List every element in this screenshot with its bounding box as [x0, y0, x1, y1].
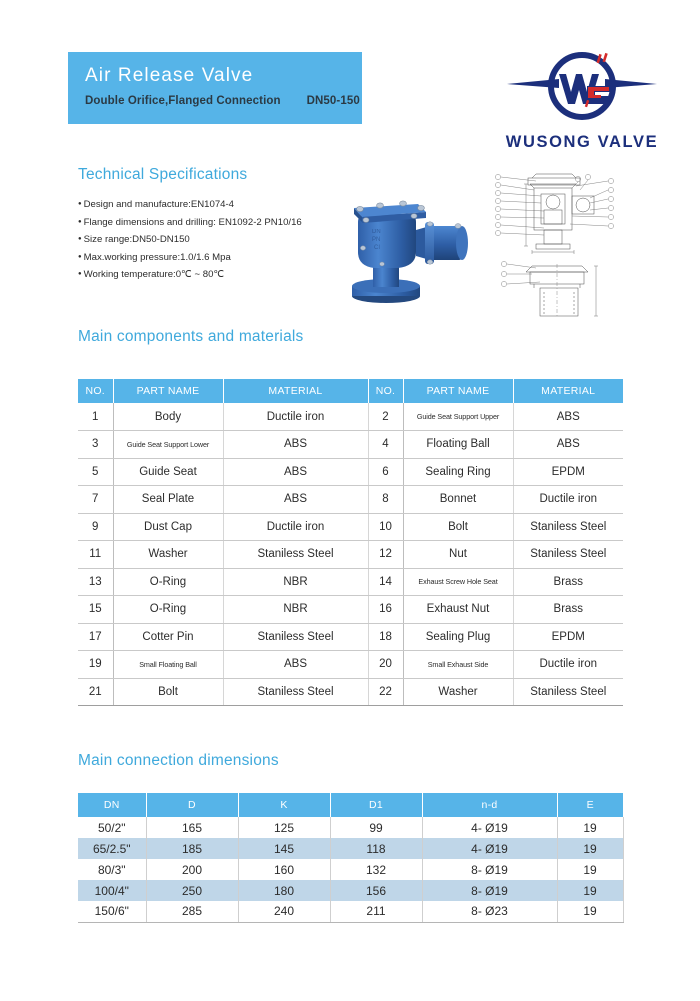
cell-no: 20	[368, 651, 403, 679]
cell-no: 7	[78, 486, 113, 514]
cell-material: Ductile iron	[223, 403, 368, 431]
cell-material: Ductile iron	[513, 651, 623, 679]
cell-no: 12	[368, 541, 403, 569]
column-header-material: MATERIAL	[513, 379, 623, 403]
cell-material: Staniless Steel	[513, 541, 623, 569]
cell-part-name: O-Ring	[113, 568, 223, 596]
valve-upper-assembly-drawing	[496, 256, 614, 318]
cell-n-d: 4- Ø19	[422, 838, 557, 859]
spec-item: Flange dimensions and drilling: EN1092-2…	[78, 214, 348, 232]
cell-material: EPDM	[513, 623, 623, 651]
cell-no: 9	[78, 513, 113, 541]
title-banner: Air Release Valve Double Orifice,Flanged…	[68, 52, 362, 124]
table-row: 9Dust CapDuctile iron10BoltStaniless Ste…	[78, 513, 623, 541]
cell-material: EPDM	[513, 458, 623, 486]
page-header: Air Release Valve Double Orifice,Flanged…	[0, 0, 700, 150]
cell-material: Staniless Steel	[223, 678, 368, 706]
cell-part-name: Floating Ball	[403, 431, 513, 459]
wusong-valve-logo-icon	[487, 48, 677, 126]
cell-part-name: Sealing Plug	[403, 623, 513, 651]
cell-material: ABS	[513, 403, 623, 431]
cell-material: Ductile iron	[223, 513, 368, 541]
technical-specifications-list: Design and manufacture:EN1074-4 Flange d…	[78, 196, 348, 284]
table-row: 21BoltStaniless Steel22WasherStaniless S…	[78, 678, 623, 706]
column-header-d: D	[146, 793, 238, 817]
cell-part-name: Exhaust Screw Hole Seat	[403, 568, 513, 596]
cell-e: 19	[557, 859, 623, 880]
cell-part-name: Seal Plate	[113, 486, 223, 514]
cell-d: 285	[146, 901, 238, 922]
cell-no: 1	[78, 403, 113, 431]
cell-material: ABS	[223, 458, 368, 486]
cell-part-name: Exhaust Nut	[403, 596, 513, 624]
cell-no: 13	[78, 568, 113, 596]
cell-no: 10	[368, 513, 403, 541]
components-table-body: 1BodyDuctile iron2Guide Seat Support Upp…	[78, 403, 623, 706]
cell-dn: 80/3"	[78, 859, 146, 880]
cell-part-name: Body	[113, 403, 223, 431]
cell-part-name: Bolt	[403, 513, 513, 541]
table-row: 80/3"2001601328- Ø1919	[78, 859, 623, 880]
table-row: 50/2"165125994- Ø1919	[78, 817, 623, 838]
cell-part-name: Small Floating Ball	[113, 651, 223, 679]
cell-n-d: 8- Ø19	[422, 880, 557, 901]
cell-material: ABS	[223, 431, 368, 459]
cell-e: 19	[557, 901, 623, 922]
cell-no: 11	[78, 541, 113, 569]
cell-d: 200	[146, 859, 238, 880]
cell-part-name: Dust Cap	[113, 513, 223, 541]
table-row: 11WasherStaniless Steel12NutStaniless St…	[78, 541, 623, 569]
cell-d: 165	[146, 817, 238, 838]
components-heading: Main components and materials	[78, 328, 304, 346]
table-row: 150/6"2852402118- Ø2319	[78, 901, 623, 922]
cell-no: 3	[78, 431, 113, 459]
cell-part-name: Cotter Pin	[113, 623, 223, 651]
cell-n-d: 8- Ø19	[422, 859, 557, 880]
cell-no: 5	[78, 458, 113, 486]
cell-no: 17	[78, 623, 113, 651]
cell-part-name: O-Ring	[113, 596, 223, 624]
title-subtitle-row: Double Orifice,Flanged Connection DN50-1…	[85, 95, 362, 107]
cell-dn: 50/2"	[78, 817, 146, 838]
column-header-part-name: PART NAME	[403, 379, 513, 403]
cell-d1: 118	[330, 838, 422, 859]
cell-part-name: Bolt	[113, 678, 223, 706]
cell-part-name: Washer	[113, 541, 223, 569]
cell-d: 250	[146, 880, 238, 901]
page-title: Air Release Valve	[85, 63, 362, 88]
cell-no: 15	[78, 596, 113, 624]
column-header-d1: D1	[330, 793, 422, 817]
technical-specifications-heading: Technical Specifications	[78, 166, 247, 184]
column-header-k: K	[238, 793, 330, 817]
cell-e: 19	[557, 817, 623, 838]
cell-part-name: Guide Seat Support Lower	[113, 431, 223, 459]
cell-no: 19	[78, 651, 113, 679]
cell-part-name: Guide Seat Support Upper	[403, 403, 513, 431]
cell-material: Staniless Steel	[513, 678, 623, 706]
cell-e: 19	[557, 880, 623, 901]
cell-k: 180	[238, 880, 330, 901]
column-header-part-name: PART NAME	[113, 379, 223, 403]
svg-text:CI: CI	[374, 245, 380, 251]
product-photo: DN PN CI	[318, 186, 486, 308]
table-row: 15O-RingNBR16Exhaust NutBrass	[78, 596, 623, 624]
cell-no: 18	[368, 623, 403, 651]
column-header-n-d: n-d	[422, 793, 557, 817]
components-table: NO. PART NAME MATERIAL NO. PART NAME MAT…	[78, 379, 623, 706]
cell-d1: 99	[330, 817, 422, 838]
cell-part-name: Sealing Ring	[403, 458, 513, 486]
cell-material: NBR	[223, 596, 368, 624]
table-row: 17Cotter PinStaniless Steel18Sealing Plu…	[78, 623, 623, 651]
cell-k: 160	[238, 859, 330, 880]
cell-part-name: Small Exhaust Side	[403, 651, 513, 679]
cell-part-name: Guide Seat	[113, 458, 223, 486]
cell-material: Staniless Steel	[223, 541, 368, 569]
cell-material: Staniless Steel	[513, 513, 623, 541]
cell-dn: 100/4"	[78, 880, 146, 901]
table-row: 13O-RingNBR14Exhaust Screw Hole SeatBras…	[78, 568, 623, 596]
cell-no: 4	[368, 431, 403, 459]
svg-text:DN: DN	[372, 229, 381, 235]
table-row: 1BodyDuctile iron2Guide Seat Support Upp…	[78, 403, 623, 431]
cell-part-name: Bonnet	[403, 486, 513, 514]
cell-n-d: 8- Ø23	[422, 901, 557, 922]
spec-item: Max.working pressure:1.0/1.6 Mpa	[78, 249, 348, 267]
cell-material: Staniless Steel	[223, 623, 368, 651]
spec-item: Size range:DN50-DN150	[78, 231, 348, 249]
size-code: DN50-150	[307, 95, 360, 107]
dimensions-table-body: 50/2"165125994- Ø191965/2.5"1851451184- …	[78, 817, 623, 922]
cell-part-name: Nut	[403, 541, 513, 569]
page-subtitle: Double Orifice,Flanged Connection	[85, 95, 281, 107]
column-header-e: E	[557, 793, 623, 817]
cell-material: ABS	[223, 486, 368, 514]
cell-e: 19	[557, 838, 623, 859]
column-header-dn: DN	[78, 793, 146, 817]
cell-dn: 150/6"	[78, 901, 146, 922]
cell-dn: 65/2.5"	[78, 838, 146, 859]
table-row: 5Guide SeatABS6Sealing RingEPDM	[78, 458, 623, 486]
table-row: 19Small Floating BallABS20Small Exhaust …	[78, 651, 623, 679]
table-header-row: DN D K D1 n-d E	[78, 793, 623, 817]
column-header-no: NO.	[78, 379, 113, 403]
company-name: WUSONG VALVE	[486, 133, 678, 152]
spec-item: Design and manufacture:EN1074-4	[78, 196, 348, 214]
table-row: 100/4"2501801568- Ø1919	[78, 880, 623, 901]
cell-d1: 132	[330, 859, 422, 880]
column-header-material: MATERIAL	[223, 379, 368, 403]
cell-no: 16	[368, 596, 403, 624]
cell-no: 8	[368, 486, 403, 514]
cell-material: ABS	[513, 431, 623, 459]
valve-cross-section-drawing	[492, 172, 618, 256]
cell-no: 6	[368, 458, 403, 486]
table-row: 7Seal PlateABS8BonnetDuctile iron	[78, 486, 623, 514]
cell-no: 22	[368, 678, 403, 706]
cell-d1: 156	[330, 880, 422, 901]
cell-material: Ductile iron	[513, 486, 623, 514]
cell-k: 145	[238, 838, 330, 859]
cell-part-name: Washer	[403, 678, 513, 706]
cell-n-d: 4- Ø19	[422, 817, 557, 838]
company-logo: WUSONG VALVE	[486, 48, 678, 152]
cell-d: 185	[146, 838, 238, 859]
dimensions-heading: Main connection dimensions	[78, 752, 279, 770]
dimensions-table: DN D K D1 n-d E 50/2"165125994- Ø191965/…	[78, 793, 624, 923]
spec-item: Working temperature:0℃ ~ 80℃	[78, 266, 348, 284]
cell-d1: 211	[330, 901, 422, 922]
cell-no: 21	[78, 678, 113, 706]
column-header-no: NO.	[368, 379, 403, 403]
cell-k: 125	[238, 817, 330, 838]
cell-no: 2	[368, 403, 403, 431]
cell-material: Brass	[513, 596, 623, 624]
cell-material: NBR	[223, 568, 368, 596]
cell-material: ABS	[223, 651, 368, 679]
table-row: 3Guide Seat Support LowerABS4Floating Ba…	[78, 431, 623, 459]
table-row: 65/2.5"1851451184- Ø1919	[78, 838, 623, 859]
svg-text:PN: PN	[372, 237, 380, 243]
cell-no: 14	[368, 568, 403, 596]
cell-material: Brass	[513, 568, 623, 596]
table-header-row: NO. PART NAME MATERIAL NO. PART NAME MAT…	[78, 379, 623, 403]
cell-k: 240	[238, 901, 330, 922]
